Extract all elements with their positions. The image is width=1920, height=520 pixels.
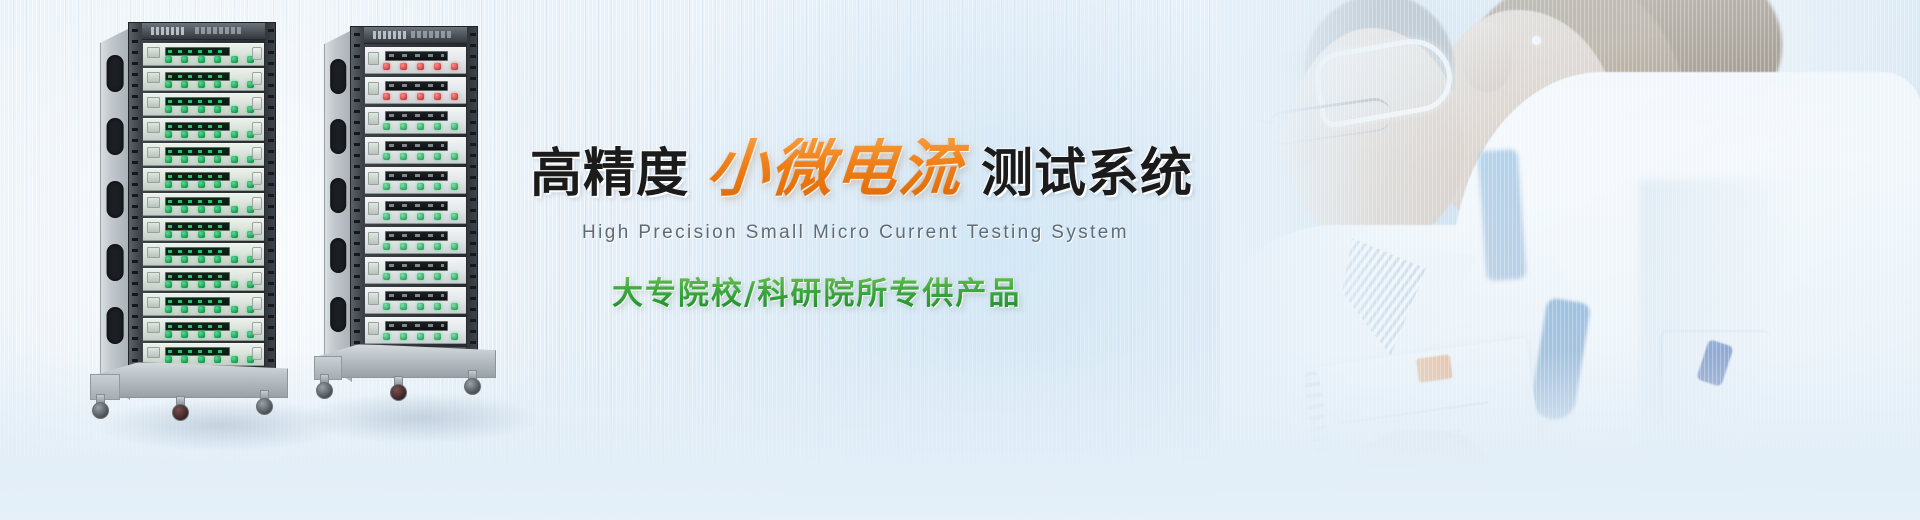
rack-base-leg (90, 374, 120, 400)
instrument-rack-mint (128, 22, 276, 394)
caster-wheel (390, 384, 407, 401)
rack-vent (107, 244, 124, 281)
rack-vent (107, 307, 124, 344)
banner-headline: 高精度 小微电流 测试系统 (530, 128, 1270, 200)
instrument-unit (365, 197, 466, 224)
promotional-banner: 高精度 小微电流 测试系统 High Precision Small Micro… (0, 0, 1920, 520)
banner-subtitle-english: High Precision Small Micro Current Testi… (582, 222, 1270, 244)
instrument-unit (365, 257, 466, 284)
instrument-unit (143, 143, 264, 166)
rack-vent (107, 118, 124, 155)
headline-suffix: 测试系统 (981, 148, 1193, 200)
rack-mounting-rail-left (351, 27, 364, 375)
rack-mounting-rail-right (467, 27, 477, 375)
rack-vent (330, 238, 346, 273)
headline-accent: 小微电流 (700, 138, 969, 200)
headline-prefix: 高精度 (530, 148, 689, 200)
instrument-unit (365, 137, 466, 164)
rack-brand-logo (373, 31, 407, 39)
rack-top-cap (129, 23, 275, 40)
caster-wheel (172, 404, 189, 421)
rack-mounting-rail-right (265, 23, 275, 393)
instrument-rack-gray (350, 26, 478, 376)
rack-side-panel (100, 28, 130, 400)
rail-hole-pattern (268, 29, 274, 387)
rail-hole-pattern (354, 33, 360, 369)
instrument-unit (143, 118, 264, 141)
rack-vent (107, 181, 124, 218)
rail-hole-pattern (470, 33, 476, 369)
rack-side-panel (324, 30, 352, 382)
instrument-unit (365, 47, 466, 74)
instrument-unit (143, 193, 264, 216)
caster-wheel (92, 402, 109, 419)
caster-wheel (256, 398, 273, 415)
rack-vent (330, 178, 346, 213)
banner-tagline: 大专院校/科研院所专供产品 (612, 268, 1021, 313)
instrument-unit (365, 77, 466, 104)
instrument-unit (143, 268, 264, 291)
rack-brand-text (411, 31, 453, 38)
instrument-unit (143, 343, 264, 366)
rack-chassis (128, 22, 276, 394)
instrument-unit (365, 107, 466, 134)
instrument-unit (143, 293, 264, 316)
instrument-unit (365, 227, 466, 254)
banner-text-block: 高精度 小微电流 测试系统 High Precision Small Micro… (530, 128, 1270, 313)
rack-brand-logo (151, 27, 185, 35)
rack-top-cap (351, 27, 477, 44)
rack-base (92, 362, 288, 398)
rack-vent (107, 55, 124, 92)
rack-vent (330, 59, 346, 94)
instrument-unit (365, 167, 466, 194)
rack-vent (330, 297, 346, 332)
instrument-unit (143, 243, 264, 266)
rack-vent (330, 119, 346, 154)
rack-right-shadow (300, 392, 540, 444)
rack-brand-text (195, 27, 243, 34)
instrument-unit (143, 43, 264, 66)
instrument-unit (365, 317, 466, 344)
rail-hole-pattern (132, 29, 138, 387)
caster-wheel (464, 378, 481, 395)
instrument-unit (365, 287, 466, 314)
instrument-unit (143, 318, 264, 341)
rack-mounting-rail-left (129, 23, 142, 393)
caster-wheel (316, 382, 333, 399)
instrument-unit (143, 168, 264, 191)
instrument-unit (143, 218, 264, 241)
rack-chassis (350, 26, 478, 376)
instrument-unit (143, 68, 264, 91)
instrument-unit (143, 93, 264, 116)
